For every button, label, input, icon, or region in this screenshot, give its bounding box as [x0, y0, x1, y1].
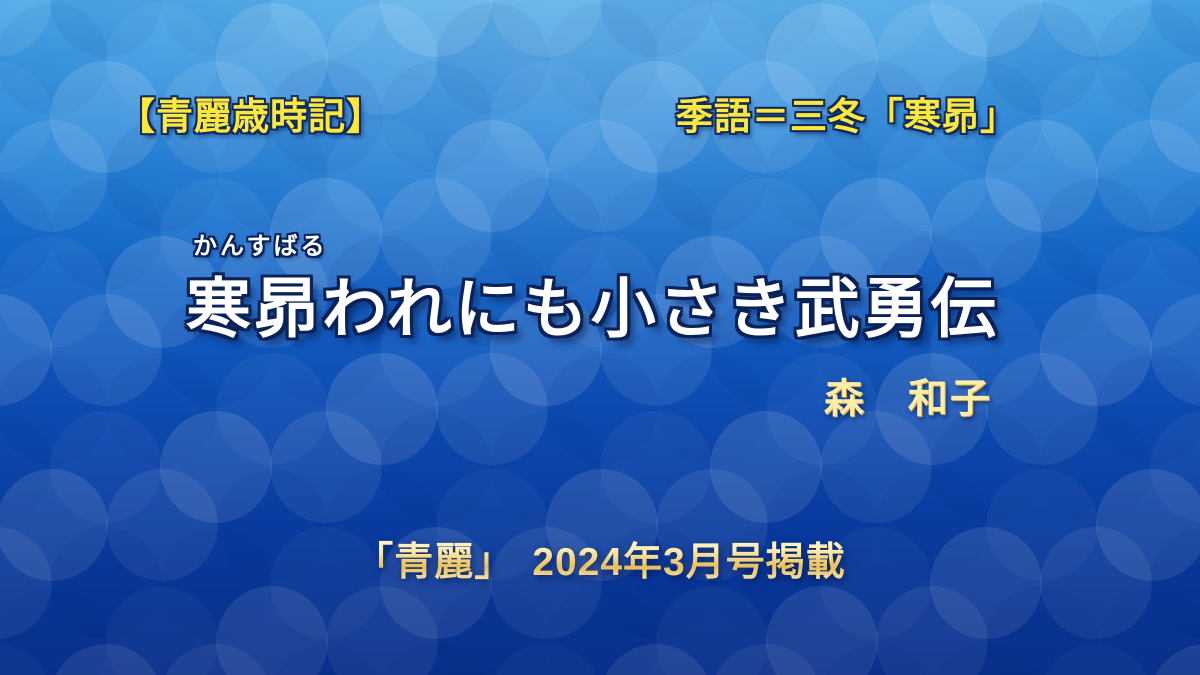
caption-issue-info: 2024年3月号掲載 [532, 541, 845, 584]
publication-caption: 「青麗」2024年3月号掲載 [0, 531, 1200, 587]
caption-magazine-name: 「青麗」 [354, 541, 514, 584]
text-layer: 【青麗歳時記】 季語＝三冬「寒昴」 かんすばる 寒昴われにも小さき武勇伝 森 和… [0, 0, 1200, 675]
haiku-text: 寒昴われにも小さき武勇伝 [186, 256, 999, 350]
header-series-title: 【青麗歳時記】 [118, 86, 384, 140]
haiku-author: 森 和子 [824, 366, 992, 424]
haiku-slide: 【青麗歳時記】 季語＝三冬「寒昴」 かんすばる 寒昴われにも小さき武勇伝 森 和… [0, 0, 1200, 675]
header-season-word: 季語＝三冬「寒昴」 [676, 86, 1018, 140]
